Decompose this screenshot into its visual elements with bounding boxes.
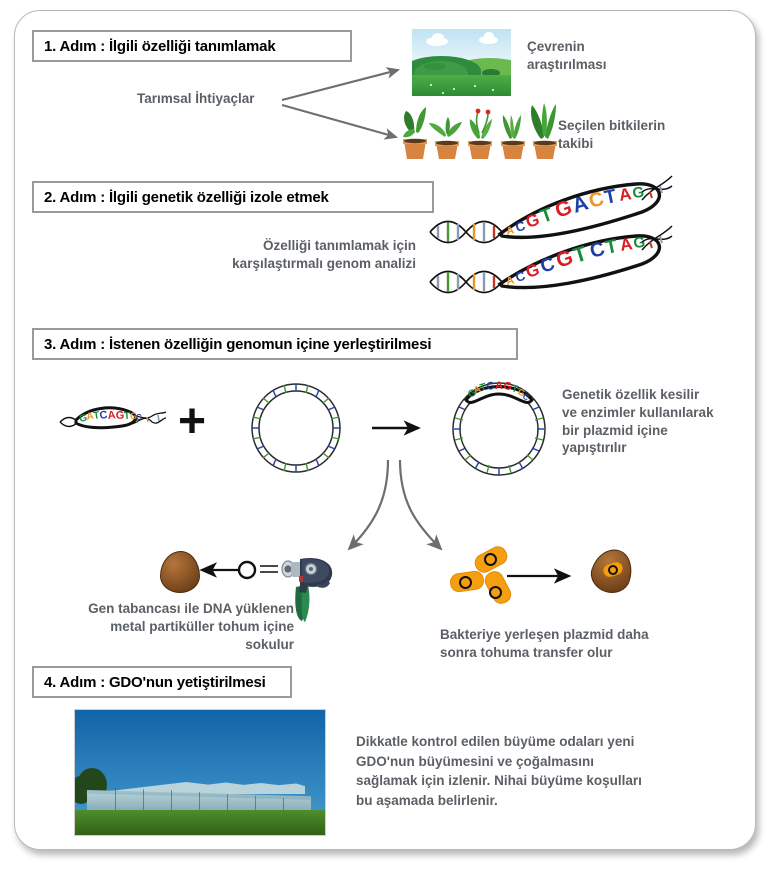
- gene-gun-caption-line2: metal partiküller tohum içine: [36, 618, 294, 636]
- seed-icon: [160, 551, 200, 593]
- step-1-branch-arrows: [280, 55, 415, 145]
- landscape-bush: [424, 63, 446, 70]
- dna-fragment-icon: G A T C A G T G C: [58, 392, 168, 438]
- potted-plant: [501, 115, 525, 159]
- landscape-flower: [442, 92, 444, 94]
- step-2-caption-line1: Özelliği tanımlamak için: [216, 237, 416, 255]
- svg-text:A: A: [495, 380, 503, 392]
- plasmid-in-bacterium-icon: [459, 576, 472, 589]
- plasmid-in-bacterium-icon: [484, 553, 497, 566]
- landscape-grass: [412, 75, 511, 96]
- cloud-icon: [432, 33, 444, 42]
- plasmid-caption-line2: ve enzimler kullanılarak: [562, 404, 714, 422]
- potted-plant: [531, 103, 557, 159]
- bacteria-caption: Bakteriye yerleşen plazmid daha sonra to…: [440, 626, 649, 662]
- landscape-flower: [453, 88, 455, 90]
- svg-text:C: C: [486, 380, 496, 393]
- bacteria-caption-line1: Bakteriye yerleşen plazmid daha: [440, 626, 649, 644]
- plasmid-caption-line3: bir plazmid içine: [562, 422, 714, 440]
- plasmid-caption: Genetik özellik kesilir ve enzimler kull…: [562, 386, 714, 457]
- step-3-branch-arrows: [330, 460, 610, 570]
- step-3-header-text: 3. Adım : İstenen özelliğin genomun için…: [44, 336, 431, 353]
- potted-plant: [403, 107, 427, 159]
- landscape-flower: [430, 84, 432, 86]
- step-4-header-text: 4. Adım : GDO'nun yetiştirilmesi: [44, 674, 266, 691]
- svg-text:C: C: [136, 413, 142, 422]
- branch-label-environment-line2: araştırılması: [527, 56, 607, 74]
- plasmid-ring-in-seed-icon: [608, 565, 618, 575]
- greenhouse-grass: [75, 810, 325, 835]
- step-2-header-box: 2. Adım : İlgili genetik özelliği izole …: [32, 181, 434, 213]
- dna-helix-icon: [430, 222, 502, 243]
- gene-gun-caption-line3: sokulur: [36, 636, 294, 654]
- branch-label-plants-line2: takibi: [558, 135, 665, 153]
- branch-label-environment: Çevrenin araştırılması: [527, 38, 607, 74]
- gene-gun-caption-line1: Gen tabancası ile DNA yüklenen: [36, 600, 294, 618]
- step-4-caption-line1: Dikkatle kontrol edilen büyüme odaları y…: [356, 732, 642, 752]
- step-4-header-box: 4. Adım : GDO'nun yetiştirilmesi: [32, 666, 292, 698]
- landscape-photo: [412, 29, 511, 96]
- step-2-caption: Özelliği tanımlamak için karşılaştırmalı…: [216, 237, 416, 273]
- arrow-black-icon: [505, 566, 585, 586]
- step-4-caption-line3: sağlamak için izlenir. Nihai büyüme koşu…: [356, 771, 642, 791]
- potted-plant: [468, 109, 492, 159]
- step-2-header-text: 2. Adım : İlgili genetik özelliği izole …: [44, 189, 329, 206]
- diagram-canvas: 1. Adım : İlgili özelliği tanımlamak Tar…: [0, 0, 776, 870]
- greenhouse-photo: [74, 709, 326, 836]
- potted-plant: [429, 117, 462, 159]
- particle-icon: [239, 562, 255, 578]
- dna-sequences-group: A C G T G A C T A G A: [428, 172, 748, 312]
- plasmid-in-bacterium-icon: [489, 586, 502, 599]
- plasmid-caption-line4: yapıştırılır: [562, 439, 714, 457]
- branch-label-plants: Seçilen bitkilerin takibi: [558, 117, 665, 153]
- step-4-caption-line4: bu aşamada belirlenir.: [356, 791, 642, 811]
- step-1-left-label: Tarımsal İhtiyaçlar: [137, 90, 255, 108]
- step-4-caption-line2: GDO'nun büyümesini ve çoğalmasını: [356, 752, 642, 772]
- plasmid-caption-line1: Genetik özellik kesilir: [562, 386, 714, 404]
- motion-lines-icon: [260, 566, 278, 572]
- step-4-caption: Dikkatle kontrol edilen büyüme odaları y…: [356, 732, 642, 810]
- bacteria-caption-line2: sonra tohuma transfer olur: [440, 644, 649, 662]
- potted-plants-group: [398, 99, 558, 165]
- branch-label-plants-line1: Seçilen bitkilerin: [558, 117, 665, 135]
- landscape-flower: [492, 89, 494, 91]
- branch-label-environment-line1: Çevrenin: [527, 38, 607, 56]
- landscape-flower: [474, 85, 476, 87]
- gene-gun-caption: Gen tabancası ile DNA yüklenen metal par…: [36, 600, 294, 653]
- svg-text:G: G: [633, 234, 646, 252]
- dna-helix-icon: [430, 272, 502, 293]
- step-2-caption-line2: karşılaştırmalı genom analizi: [216, 255, 416, 273]
- step-3-header-box: 3. Adım : İstenen özelliğin genomun için…: [32, 328, 518, 360]
- plus-icon: +: [178, 398, 206, 446]
- gun-trigger: [299, 576, 303, 582]
- cloud-icon: [484, 32, 494, 40]
- step-1-header-text: 1. Adım : İlgili özelliği tanımlamak: [44, 38, 275, 55]
- arrow-black-icon: [370, 418, 430, 438]
